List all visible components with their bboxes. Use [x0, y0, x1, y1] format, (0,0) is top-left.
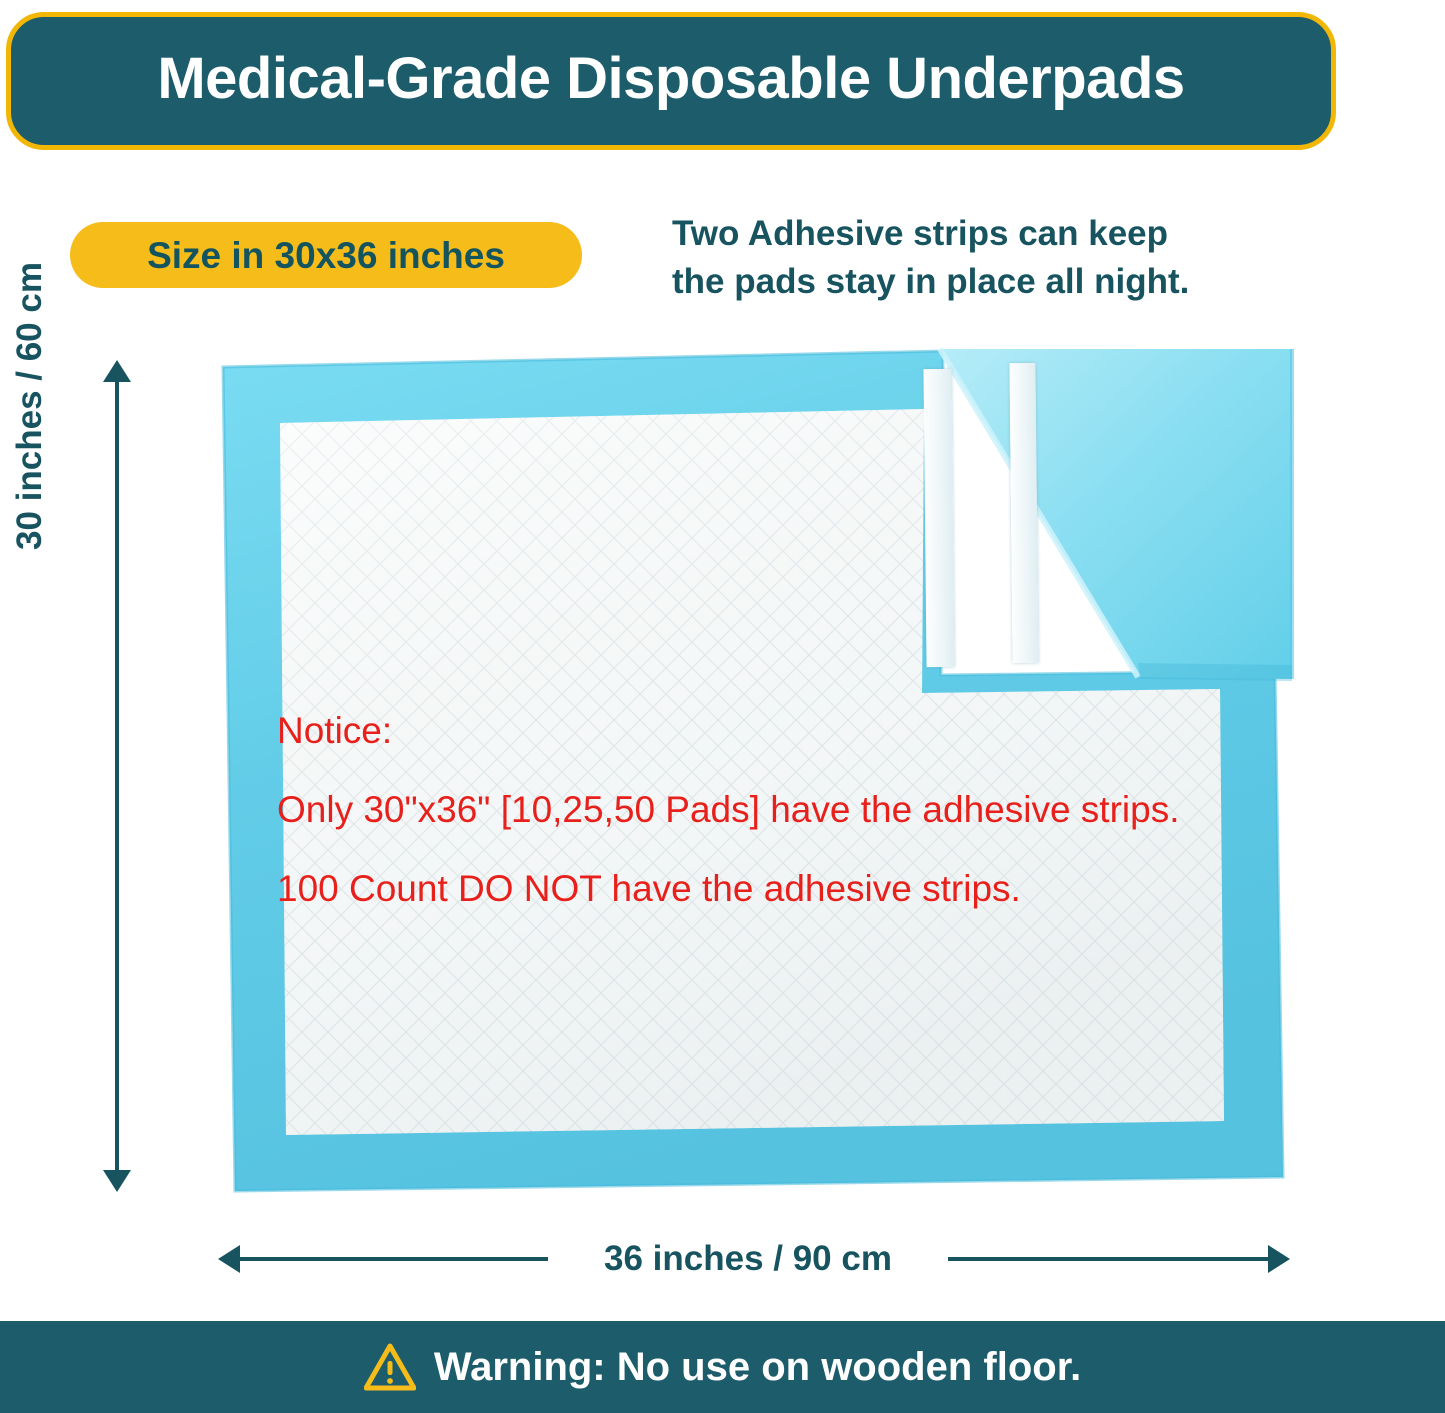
page-title: Medical-Grade Disposable Underpads — [157, 50, 1184, 112]
height-dimension-label: 30 inches / 60 cm — [10, 91, 50, 721]
warning-triangle-icon — [364, 1343, 416, 1391]
size-badge: Size in 30x36 inches — [70, 222, 582, 288]
arrow-right-icon — [1268, 1245, 1290, 1273]
notice-block: Notice: Only 30"x36" [10,25,50 Pads] hav… — [277, 712, 1287, 907]
notice-heading: Notice: — [277, 712, 1287, 749]
dimension-line-vertical — [115, 374, 119, 1178]
adhesive-note: Two Adhesive strips can keep the pads st… — [672, 210, 1372, 305]
adhesive-note-line-1: Two Adhesive strips can keep — [672, 210, 1372, 258]
adhesive-note-line-2: the pads stay in place all night. — [672, 258, 1372, 306]
product-image: Notice: Only 30"x36" [10,25,50 Pads] hav… — [213, 345, 1293, 1200]
notice-line-1: Only 30"x36" [10,25,50 Pads] have the ad… — [277, 791, 1287, 828]
title-banner: Medical-Grade Disposable Underpads — [6, 12, 1336, 150]
warning-bar: Warning: No use on wooden floor. — [0, 1321, 1445, 1413]
warning-label: Warning: No use on wooden floor. — [434, 1347, 1081, 1387]
arrow-down-icon — [103, 1170, 131, 1192]
width-dimension-arrow: 36 inches / 90 cm — [218, 1236, 1290, 1282]
notice-line-2: 100 Count DO NOT have the adhesive strip… — [277, 870, 1287, 907]
width-dimension-label: 36 inches / 90 cm — [548, 1236, 948, 1282]
size-badge-label: Size in 30x36 inches — [147, 237, 505, 274]
height-dimension-arrow — [86, 360, 146, 1192]
